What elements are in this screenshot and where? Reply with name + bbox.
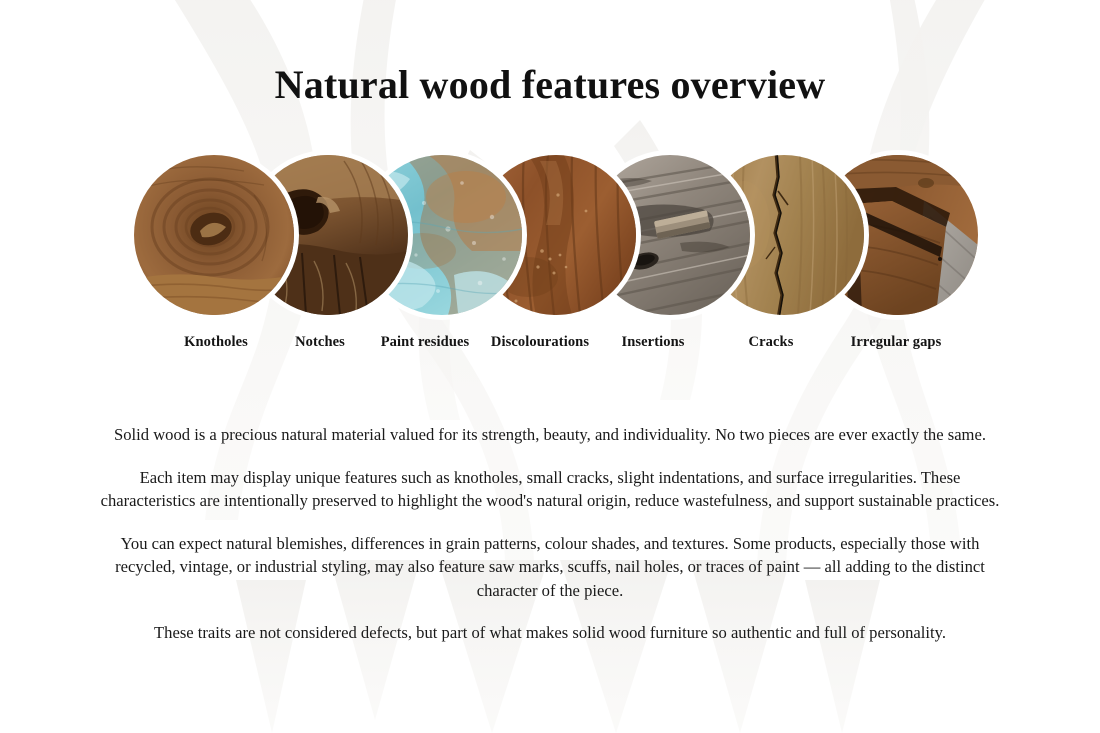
body-paragraph-4: These traits are not considered defects,… (110, 621, 990, 645)
feature-label-knotholes: Knotholes (184, 334, 248, 351)
feature-label-strip: Knotholes Notches Paint residues Discolo… (0, 334, 1100, 360)
body-paragraph-1: Solid wood is a precious natural materia… (95, 423, 1005, 447)
feature-image-strip (0, 155, 1100, 315)
page-title: Natural wood features overview (0, 0, 1100, 108)
page-root: Natural wood features overview (0, 0, 1100, 733)
feature-label-insertions: Insertions (621, 334, 684, 351)
feature-label-irregular-gaps: Irregular gaps (851, 334, 942, 351)
feature-item-knotholes[interactable] (134, 155, 294, 315)
body-copy: Solid wood is a precious natural materia… (95, 360, 1005, 645)
feature-label-cracks: Cracks (749, 334, 794, 351)
body-paragraph-2: Each item may display unique features su… (100, 466, 1000, 513)
feature-label-notches: Notches (295, 334, 345, 351)
wood-knothole-disc-icon (134, 155, 294, 315)
feature-label-discolourations: Discolourations (491, 334, 589, 351)
feature-label-paint-residues: Paint residues (381, 334, 470, 351)
body-paragraph-3: You can expect natural blemishes, differ… (100, 532, 1000, 603)
